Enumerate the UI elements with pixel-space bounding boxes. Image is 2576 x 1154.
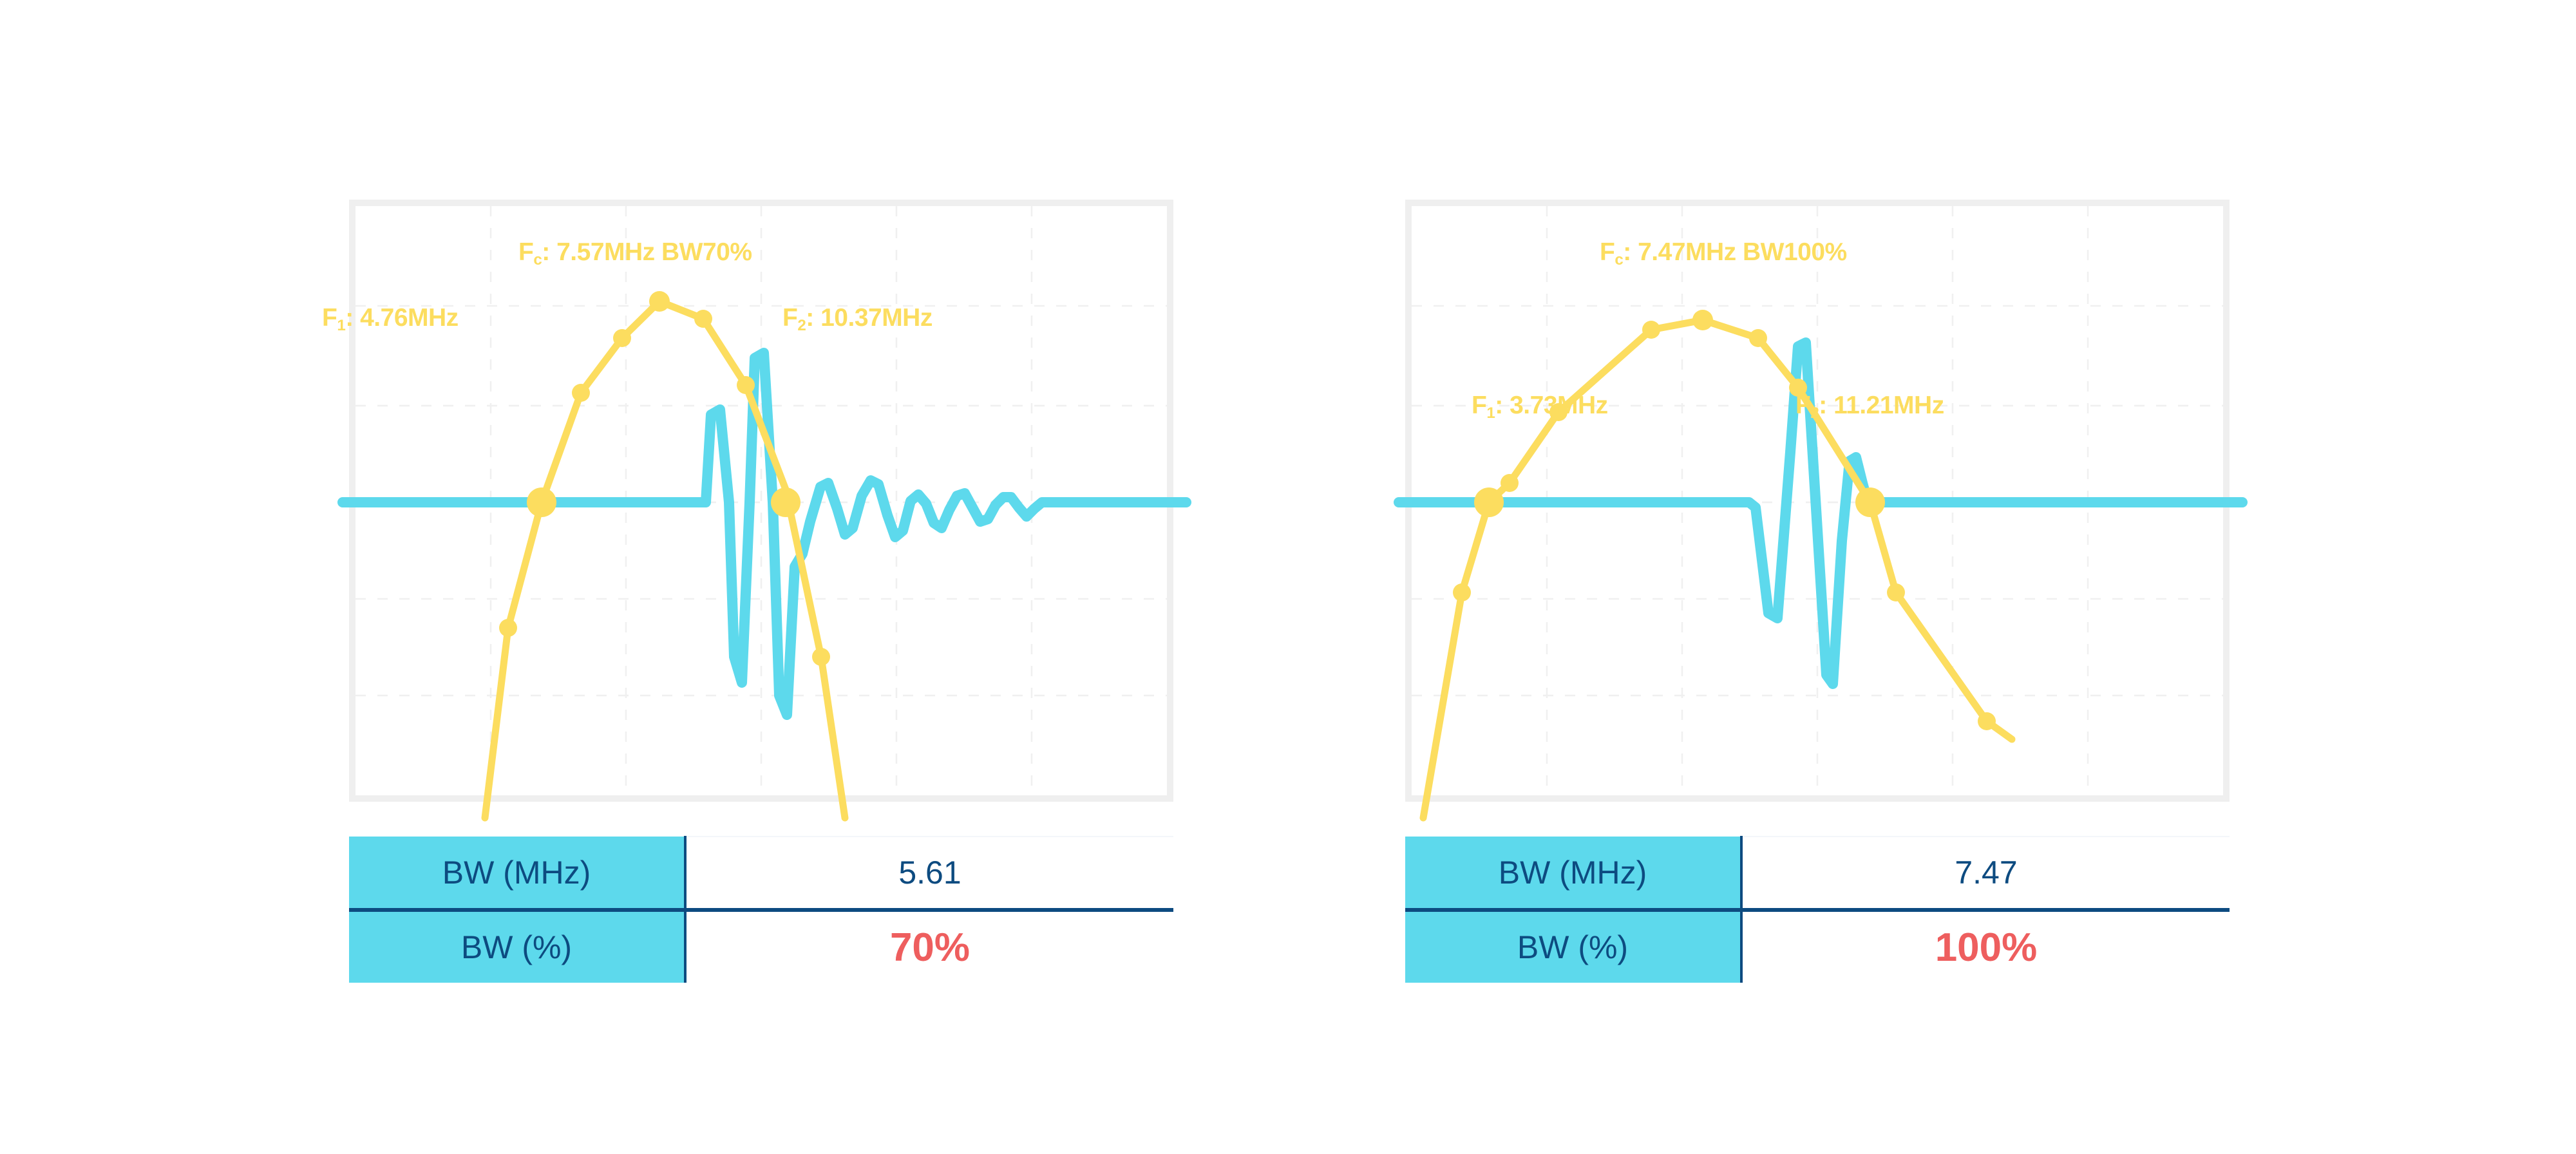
- center-frequency-label-right: Fc: 7.47MHz BW100%: [1600, 238, 1847, 267]
- chart-plot-left: Fc: 7.57MHz BW70% F1: 4.76MHz F2: 10.37M…: [355, 206, 1167, 795]
- f1-marker-right: [1474, 487, 1504, 517]
- center-frequency-label-left: Fc: 7.57MHz BW70%: [518, 238, 752, 267]
- bandwidth-table-right: BW (MHz) 7.47 BW (%) 100%: [1405, 836, 2230, 983]
- measurement-panel-left: Fc: 7.57MHz BW70% F1: 4.76MHz F2: 10.37M…: [309, 0, 1211, 1154]
- measurement-panel-right: Fc: 7.47MHz BW100% F1: 3.73MHz F2: 11.21…: [1365, 0, 2267, 1154]
- bandwidth-table-left: BW (MHz) 5.61 BW (%) 70%: [349, 836, 1173, 983]
- f2-marker-left: [771, 487, 800, 517]
- f2-symbol: F2: [782, 304, 806, 332]
- table-row: BW (%) 70%: [349, 910, 1173, 983]
- upper-cutoff-label-right: F2: 11.21MHz: [1795, 392, 1944, 420]
- table-row: BW (MHz) 7.47: [1405, 837, 2230, 910]
- spectrum-data-points-right: [1453, 310, 1996, 730]
- spectrum-chart-left: [355, 206, 1167, 795]
- chart-plot-right: Fc: 7.47MHz BW100% F1: 3.73MHz F2: 11.21…: [1412, 206, 2223, 795]
- bw-percent-value: 70%: [685, 910, 1173, 983]
- bw-percent-label: BW (%): [349, 910, 685, 983]
- f2-symbol: F2: [1795, 392, 1819, 419]
- f1-marker-left: [527, 487, 556, 517]
- bw-percent-value: 100%: [1741, 910, 2230, 983]
- fc-symbol: Fc: [518, 238, 542, 266]
- upper-cutoff-label-left: F2: 10.37MHz: [782, 304, 933, 332]
- rf-pulse-waveform-left: [343, 353, 1186, 715]
- lower-cutoff-label-left: F1: 4.76MHz: [322, 304, 459, 332]
- bw-mhz-value: 7.47: [1741, 837, 2230, 910]
- f2-marker-right: [1855, 487, 1885, 517]
- lower-cutoff-label-right: F1: 3.73MHz: [1472, 392, 1608, 420]
- f1-symbol: F1: [322, 304, 345, 332]
- bw-percent-label: BW (%): [1405, 910, 1741, 983]
- f1-symbol: F1: [1472, 392, 1495, 419]
- bw-mhz-label: BW (MHz): [1405, 837, 1741, 910]
- bw-mhz-label: BW (MHz): [349, 837, 685, 910]
- frequency-spectrum-left: [485, 301, 845, 818]
- spectrum-chart-right: [1412, 206, 2223, 795]
- bw-mhz-value: 5.61: [685, 837, 1173, 910]
- chart-frame-right: Fc: 7.47MHz BW100% F1: 3.73MHz F2: 11.21…: [1405, 200, 2230, 802]
- chart-frame-left: Fc: 7.57MHz BW70% F1: 4.76MHz F2: 10.37M…: [349, 200, 1173, 802]
- table-row: BW (MHz) 5.61: [349, 837, 1173, 910]
- screenshot-canvas: Fc: 7.57MHz BW70% F1: 4.76MHz F2: 10.37M…: [0, 0, 2576, 1154]
- table-row: BW (%) 100%: [1405, 910, 2230, 983]
- fc-symbol: Fc: [1600, 238, 1623, 266]
